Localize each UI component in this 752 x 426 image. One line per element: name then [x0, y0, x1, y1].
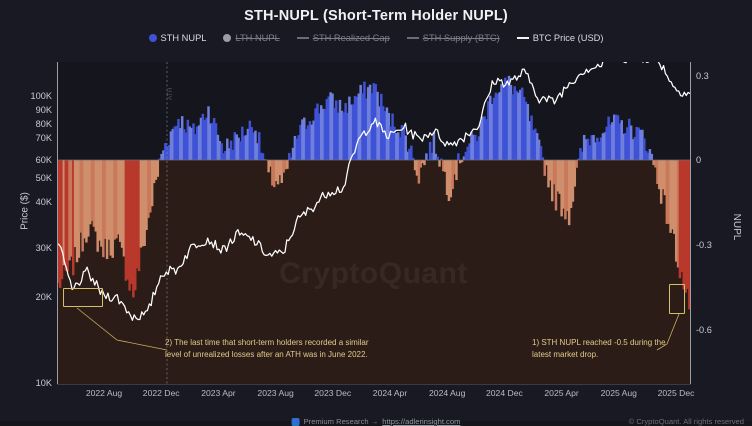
x-tick-2022-dec: 2022 Dec — [143, 388, 180, 398]
chart-screenshot: STH-NUPL (Short-Term Holder NUPL) STH NU… — [0, 0, 752, 421]
footer-premium: Premium Research → https://adlerinsight.… — [292, 417, 461, 426]
copyright-label: © CryptoQuant. All rights reserved — [629, 417, 744, 426]
x-tick-2024-aug: 2024 Aug — [429, 388, 465, 398]
x-tick-2023-aug: 2023 Aug — [257, 388, 293, 398]
x-tick-2025-apr: 2025 Apr — [544, 388, 578, 398]
cryptoquant-logo-icon — [292, 418, 300, 426]
x-tick-2023-apr: 2023 Apr — [201, 388, 235, 398]
x-tick-2025-aug: 2025 Aug — [601, 388, 637, 398]
x-tick-2024-dec: 2024 Dec — [486, 388, 523, 398]
ath-marker-label: ATH — [167, 87, 174, 100]
premium-research-label: Premium Research → — [304, 417, 379, 426]
x-tick-2022-aug: 2022 Aug — [86, 388, 122, 398]
x-tick-2024-apr: 2024 Apr — [373, 388, 407, 398]
x-tick-2023-dec: 2023 Dec — [314, 388, 351, 398]
x-tick-2025-dec: 2025 Dec — [658, 388, 695, 398]
adlerinsight-link[interactable]: https://adlerinsight.com — [382, 417, 460, 426]
annotation-1: 1) STH NUPL reached -0.5 during the late… — [532, 337, 677, 360]
annotation-2: 2) The last time that short-term holders… — [165, 337, 380, 360]
